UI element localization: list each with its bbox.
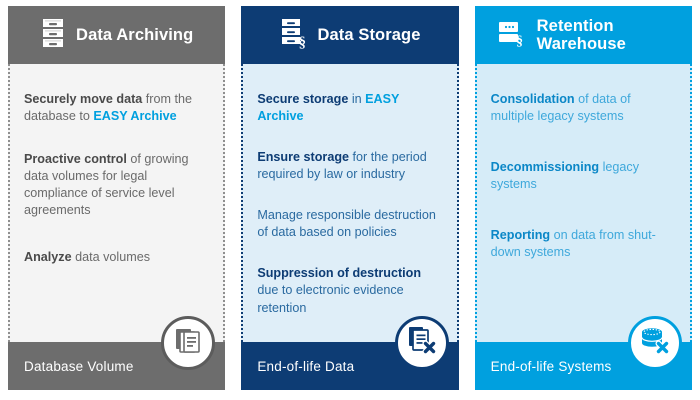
footer-label: End-of-life Systems [491, 359, 612, 374]
bullet-lead: Suppression of destruction [257, 266, 421, 280]
column-data-archiving: Data Archiving Securely move data from t… [0, 0, 233, 400]
server-section-icon: § [280, 17, 308, 54]
badge-end-of-life-data [395, 316, 449, 370]
bullet-lead: Ensure storage [257, 150, 349, 164]
column-body-data-archiving: Securely move data from the database to … [8, 64, 225, 342]
column-header-data-storage: § Data Storage [241, 6, 458, 64]
bullet-item: Reporting on data from shut-down systems [491, 227, 676, 261]
badge-end-of-life-systems [628, 316, 682, 370]
bullet-text: Manage responsible destruction of data b… [257, 208, 436, 239]
column-header-retention-warehouse: § Retention Warehouse [475, 6, 692, 64]
bullet-text: due to electronic evidence retention [257, 283, 403, 314]
bullet-item: Decommissioning legacy systems [491, 159, 676, 193]
bullet-lead: Decommissioning [491, 160, 599, 174]
column-title: Data Storage [318, 26, 421, 44]
column-header-data-archiving: Data Archiving [8, 6, 225, 64]
database-section-icon: § [497, 18, 527, 53]
filing-cabinet-icon [40, 18, 66, 53]
column-retention-warehouse: § Retention Warehouse Consolidation of d… [467, 0, 700, 400]
document-stack-delete-icon [406, 325, 438, 362]
bullet-lead: Reporting [491, 228, 550, 242]
footer-label: End-of-life Data [257, 359, 354, 374]
svg-text:§: § [298, 35, 306, 49]
bullet-item: Analyze data volumes [24, 249, 209, 266]
badge-database-volume [161, 316, 215, 370]
column-body-retention-warehouse: Consolidation of data of multiple legacy… [475, 64, 692, 342]
bullet-item: Suppression of destruction due to electr… [257, 265, 442, 316]
column-body-data-storage: Secure storage in EASY Archive Ensure st… [241, 64, 458, 342]
footer-label: Database Volume [24, 359, 134, 374]
bullet-accent: EASY Archive [93, 109, 176, 123]
bullet-lead: Consolidation [491, 92, 575, 106]
bullet-text: in [348, 92, 365, 106]
bullet-item: Securely move data from the database to … [24, 91, 209, 125]
bullet-item: Consolidation of data of multiple legacy… [491, 91, 676, 125]
three-column-infographic: Data Archiving Securely move data from t… [0, 0, 700, 400]
document-stack-icon [173, 326, 203, 361]
bullet-lead: Secure storage [257, 92, 348, 106]
bullet-lead: Proactive control [24, 152, 127, 166]
column-data-storage: § Data Storage Secure storage in EASY Ar… [233, 0, 466, 400]
bullet-text: data volumes [72, 250, 150, 264]
bullet-item: Manage responsible destruction of data b… [257, 207, 442, 241]
svg-text:§: § [516, 34, 523, 48]
column-title: Data Archiving [76, 26, 193, 44]
bullet-item: Ensure storage for the period required b… [257, 149, 442, 183]
database-delete-icon [639, 325, 671, 362]
bullet-item: Secure storage in EASY Archive [257, 91, 442, 125]
bullet-item: Proactive control of growing data volume… [24, 151, 209, 220]
bullet-lead: Securely move data [24, 92, 142, 106]
bullet-lead: Analyze [24, 250, 72, 264]
column-title: Retention Warehouse [537, 17, 626, 54]
